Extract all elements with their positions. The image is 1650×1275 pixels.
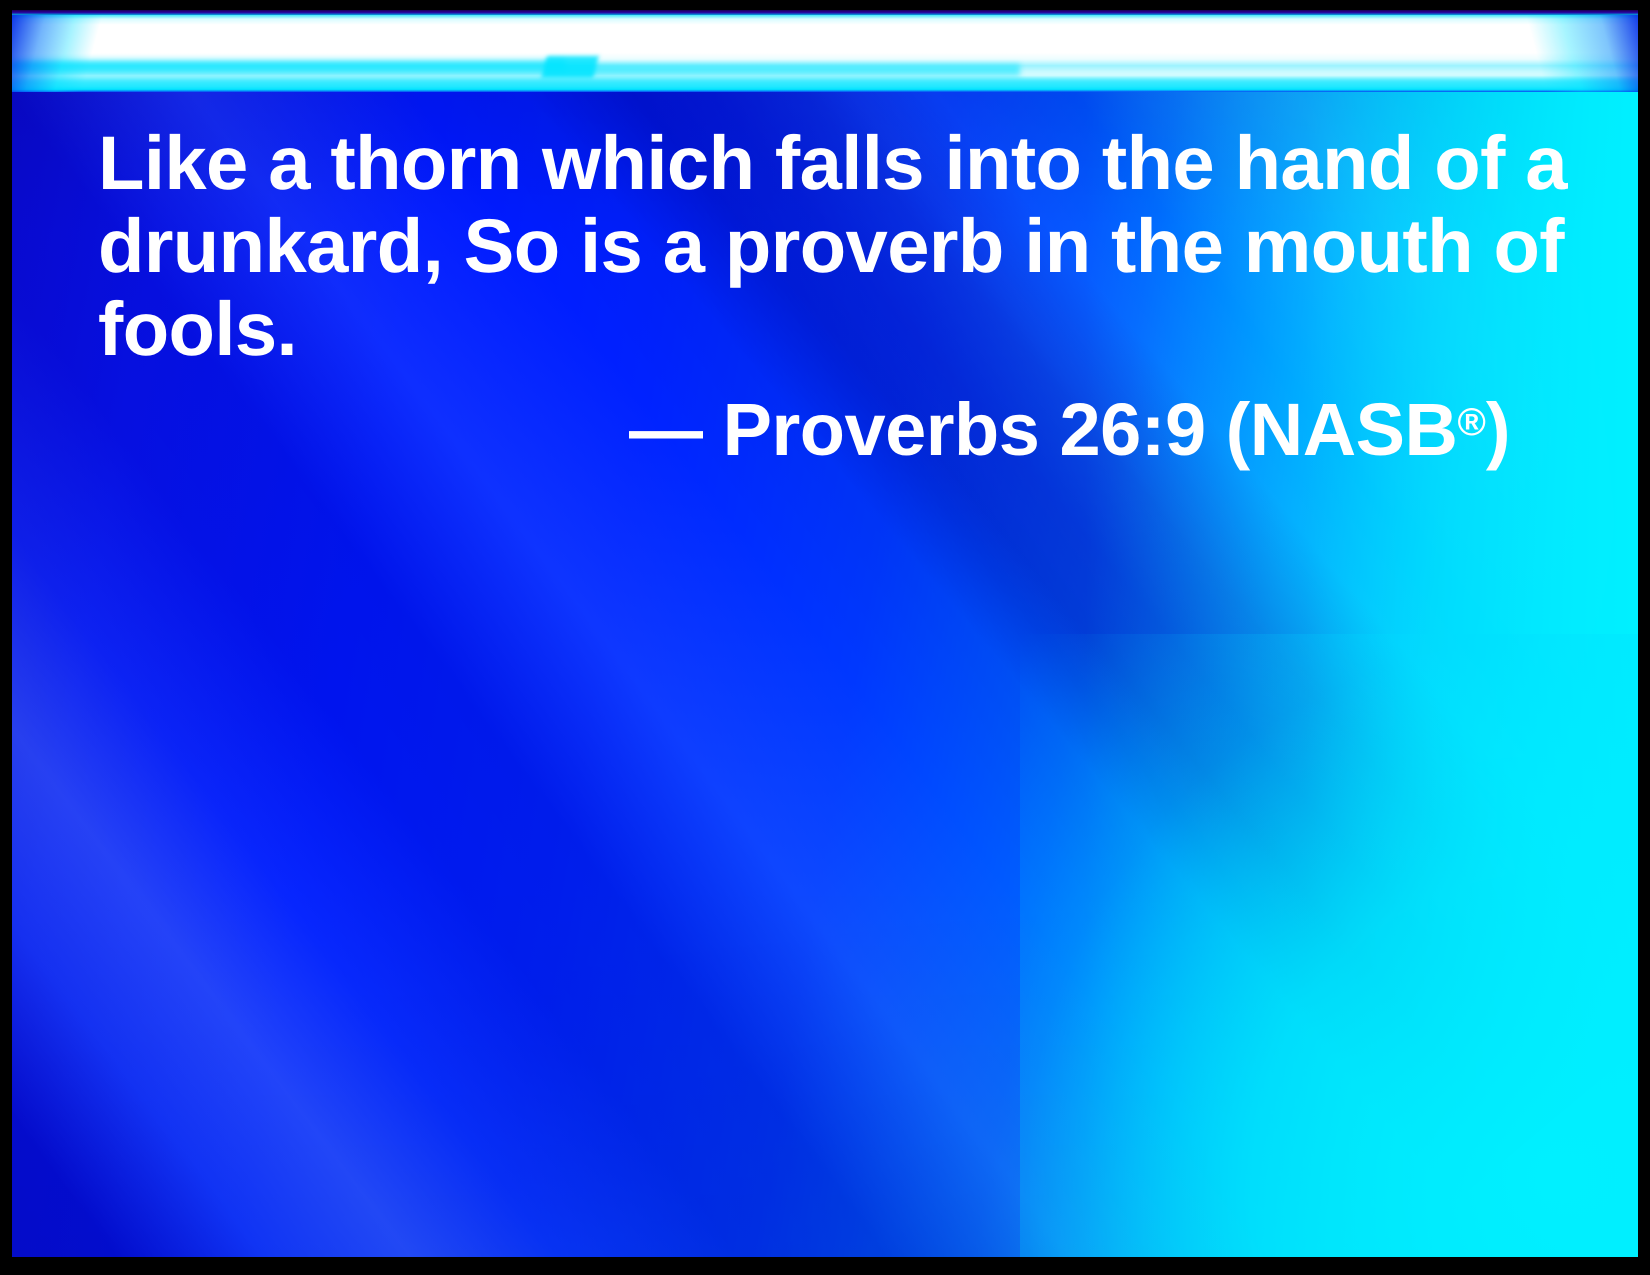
attribution-book: Proverbs	[723, 388, 1040, 471]
header-light-band	[12, 10, 1638, 92]
verse-line-3: fools.	[98, 288, 1518, 371]
verse-line-1: Like a thorn which falls into the hand o…	[98, 122, 1518, 205]
verse-text-block: Like a thorn which falls into the hand o…	[98, 122, 1518, 371]
header-band-stripe	[12, 78, 1638, 86]
header-band-stripe	[12, 64, 1020, 76]
header-band-top-rule	[12, 10, 1638, 15]
registered-trademark-icon: ®	[1457, 401, 1485, 444]
header-band-right-cap	[1518, 10, 1638, 92]
attribution-paren-open: (	[1206, 388, 1250, 471]
slide-canvas: Like a thorn which falls into the hand o…	[12, 10, 1638, 1257]
attribution-paren-close: )	[1486, 388, 1510, 471]
attribution-translation: NASB	[1250, 388, 1458, 471]
verse-attribution: — Proverbs 26:9 (NASB®)	[98, 382, 1510, 471]
attribution-space	[1039, 388, 1059, 471]
attribution-reference: 26:9	[1059, 388, 1205, 471]
attribution-em-dash: —	[629, 388, 723, 471]
verse-slide: Like a thorn which falls into the hand o…	[0, 0, 1650, 1275]
header-band-notch	[541, 56, 598, 78]
header-band-left-cap	[12, 10, 108, 92]
verse-line-2: drunkard, So is a proverb in the mouth o…	[98, 205, 1518, 288]
